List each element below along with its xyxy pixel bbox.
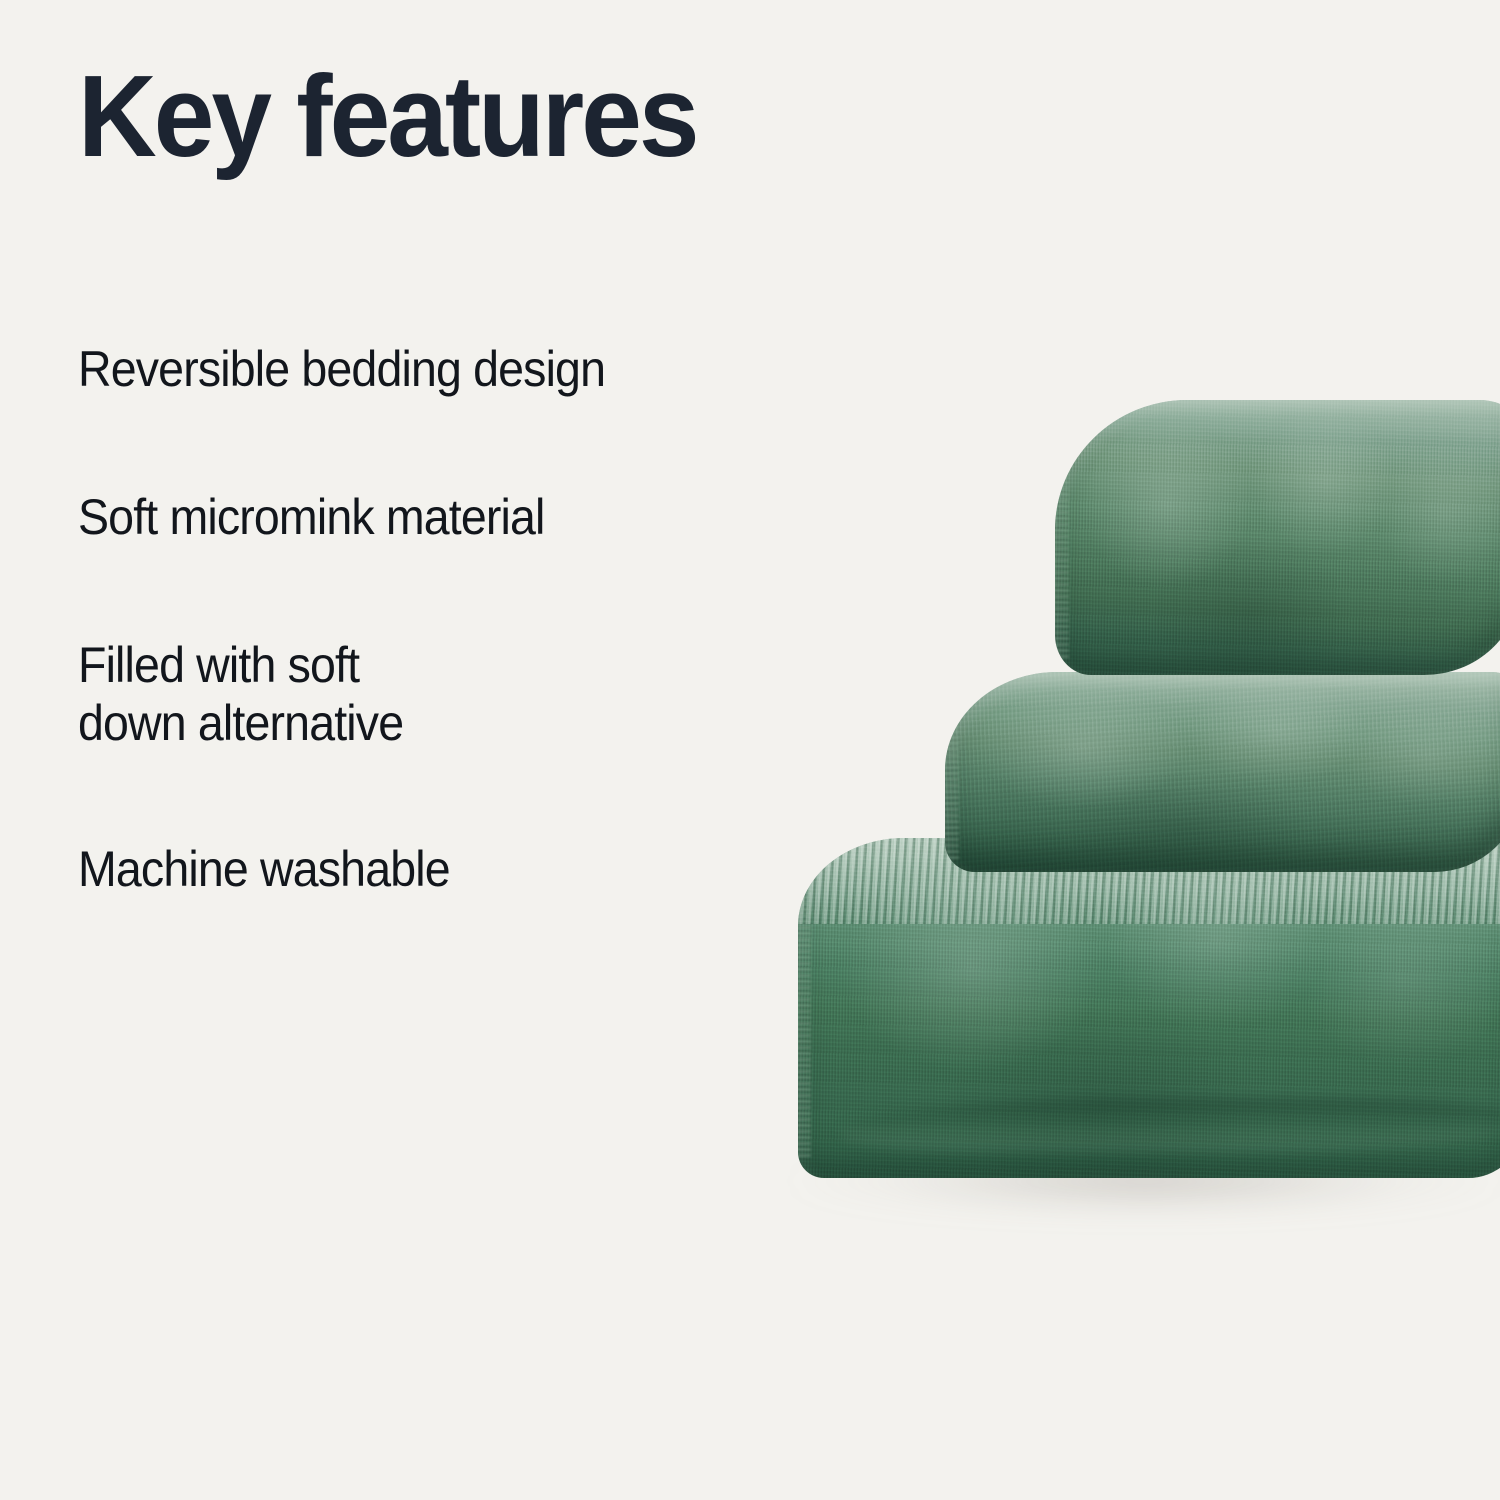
feature-item-reversible-bedding-design: Reversible bedding design: [78, 340, 803, 398]
feature-list: Reversible bedding design Soft micromink…: [78, 340, 858, 898]
blanket-top-pile-texture: [1055, 400, 1500, 675]
infographic-canvas: Key features Reversible bedding design S…: [0, 0, 1500, 1500]
blanket-layer-middle: [945, 672, 1500, 872]
text-column: Key features Reversible bedding design S…: [78, 58, 858, 174]
blanket-layer-top: [1055, 400, 1500, 675]
feature-item-soft-micromink-material: Soft micromink material: [78, 488, 803, 546]
feature-item-machine-washable: Machine washable: [78, 840, 803, 898]
blanket-top-fuzzy-edge: [1055, 422, 1069, 659]
blanket-middle-pile-texture: [945, 672, 1500, 872]
blanket-layer-bottom: [798, 838, 1500, 1178]
blanket-middle-shading: [945, 672, 1500, 872]
product-image-blanket-stack: [760, 360, 1500, 1260]
blanket-top-shading: [1055, 400, 1500, 675]
blanket-bottom-hem-fold: [841, 1098, 1500, 1152]
blanket-middle-fuzzy-edge: [945, 688, 959, 860]
page-title: Key features: [78, 58, 811, 174]
feature-item-filled-with-soft-down-alternative: Filled with soft down alternative: [78, 636, 803, 752]
